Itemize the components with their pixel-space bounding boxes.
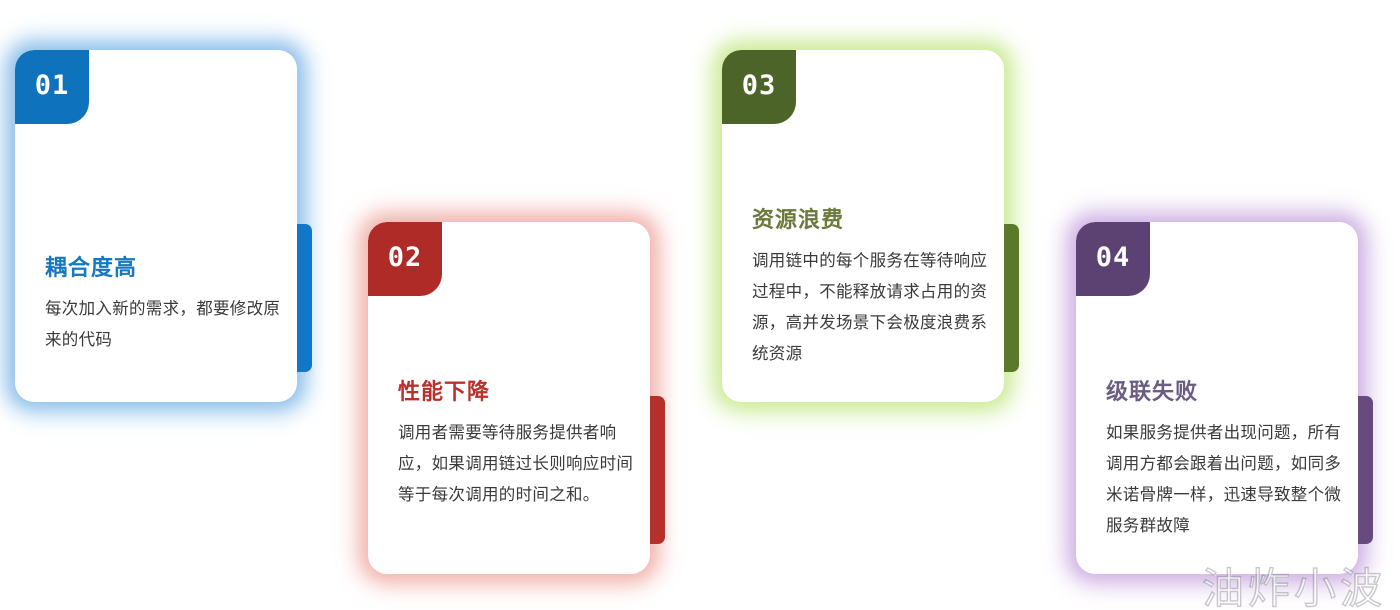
infographic-canvas: 01 耦合度高 每次加入新的需求，都要修改原来的代码 02 性能下降 调用者需要… xyxy=(0,0,1400,610)
card-content-01: 耦合度高 每次加入新的需求，都要修改原来的代码 xyxy=(45,250,281,356)
card-number-badge-01: 01 xyxy=(15,50,89,124)
card-number-badge-02: 02 xyxy=(368,222,442,296)
card-surface-04: 04 级联失败 如果服务提供者出现问题，所有调用方都会跟着出问题，如同多米诺骨牌… xyxy=(1076,222,1358,574)
info-card-02[interactable]: 02 性能下降 调用者需要等待服务提供者响应，如果调用链过长则响应时间等于每次调… xyxy=(364,218,669,586)
card-surface-01: 01 耦合度高 每次加入新的需求，都要修改原来的代码 xyxy=(15,50,297,402)
card-number-badge-04: 04 xyxy=(1076,222,1150,296)
info-card-03[interactable]: 03 资源浪费 调用链中的每个服务在等待响应过程中，不能释放请求占用的资源，高并… xyxy=(718,46,1023,414)
card-title-01: 耦合度高 xyxy=(45,250,281,282)
card-surface-03: 03 资源浪费 调用链中的每个服务在等待响应过程中，不能释放请求占用的资源，高并… xyxy=(722,50,1004,402)
card-title-02: 性能下降 xyxy=(398,374,634,406)
card-content-04: 级联失败 如果服务提供者出现问题，所有调用方都会跟着出问题，如同多米诺骨牌一样，… xyxy=(1106,374,1342,542)
card-title-04: 级联失败 xyxy=(1106,374,1342,406)
info-card-04[interactable]: 04 级联失败 如果服务提供者出现问题，所有调用方都会跟着出问题，如同多米诺骨牌… xyxy=(1072,218,1377,586)
card-content-02: 性能下降 调用者需要等待服务提供者响应，如果调用链过长则响应时间等于每次调用的时… xyxy=(398,374,634,511)
card-text-03: 调用链中的每个服务在等待响应过程中，不能释放请求占用的资源，高并发场景下会极度浪… xyxy=(752,246,988,370)
card-surface-02: 02 性能下降 调用者需要等待服务提供者响应，如果调用链过长则响应时间等于每次调… xyxy=(368,222,650,574)
card-text-02: 调用者需要等待服务提供者响应，如果调用链过长则响应时间等于每次调用的时间之和。 xyxy=(398,418,634,511)
card-text-01: 每次加入新的需求，都要修改原来的代码 xyxy=(45,294,281,356)
card-title-03: 资源浪费 xyxy=(752,202,988,234)
card-content-03: 资源浪费 调用链中的每个服务在等待响应过程中，不能释放请求占用的资源，高并发场景… xyxy=(752,202,988,370)
card-text-04: 如果服务提供者出现问题，所有调用方都会跟着出问题，如同多米诺骨牌一样，迅速导致整… xyxy=(1106,418,1342,542)
info-card-01[interactable]: 01 耦合度高 每次加入新的需求，都要修改原来的代码 xyxy=(11,46,316,414)
card-number-badge-03: 03 xyxy=(722,50,796,124)
